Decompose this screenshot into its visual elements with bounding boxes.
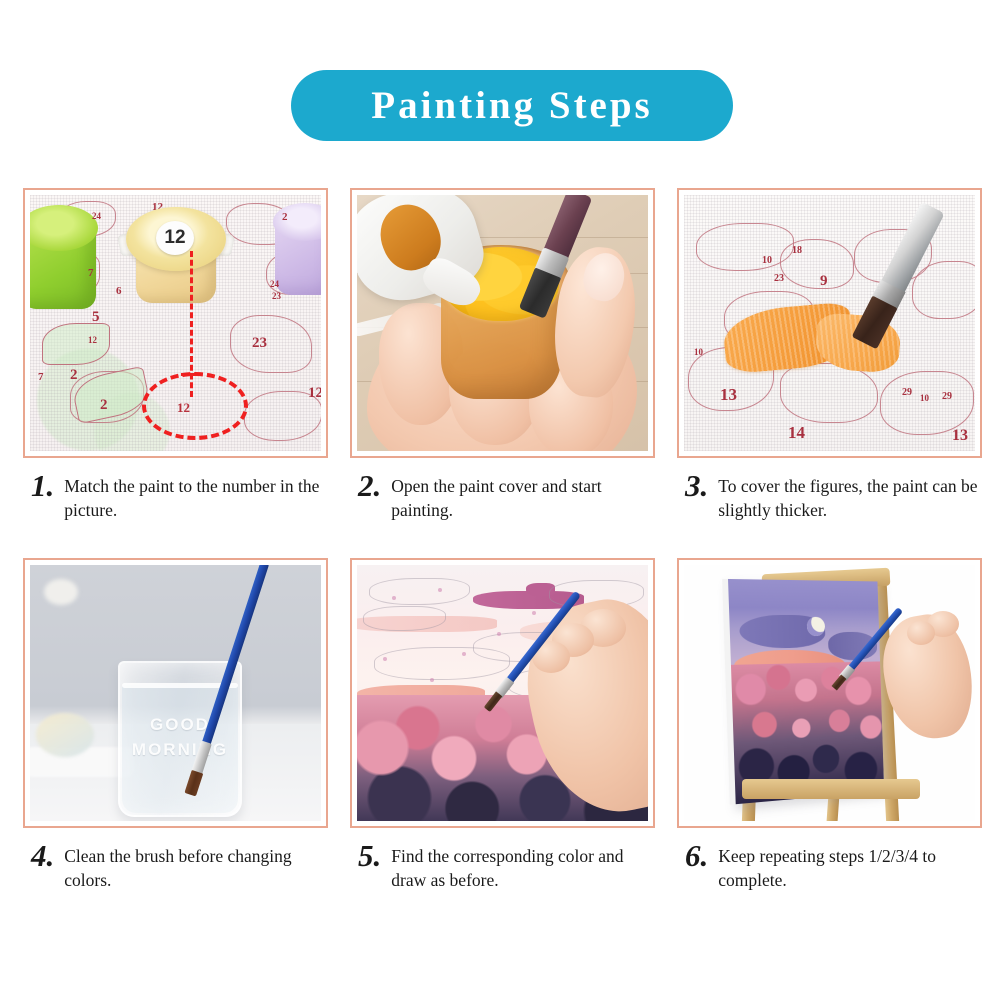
step-2-caption: 2. Open the paint cover and start painti… [350,468,655,522]
number-dot [497,632,501,636]
step-5-caption: 5. Find the corresponding color and draw… [350,838,655,892]
canvas-number-label: 18 [792,245,802,256]
step-description: Find the corresponding color and draw as… [391,838,655,892]
canvas-number-label: 24 [270,279,279,289]
step-number: 6. [685,838,708,871]
steps-grid: 12 24 2 7 6 5 12 23 24 23 2 7 2 12 [0,188,1000,928]
canvas-number-label: 12 [308,385,321,402]
canvas-number-label: 7 [38,371,44,383]
highlighted-canvas-number: 12 [177,400,190,416]
open-paint-pot-photo [357,195,648,451]
step-4-photo-frame: GOOD MORNING [23,558,328,828]
step-5-photo-frame [350,558,655,828]
step-6-photo-frame [677,558,982,828]
step-card-6: 6. Keep repeating steps 1/2/3/4 to compl… [677,558,982,892]
number-dot [392,596,396,600]
glass-text-line-2: MORNING [120,738,240,763]
step-3-photo-frame: 10 18 23 9 20 20 13 14 29 10 29 10 13 [677,188,982,458]
paint-pot-number: 12 [164,227,185,249]
canvas-number-label: 12 [88,335,97,345]
canvas-number-label: 5 [92,309,100,326]
canvas-number-label: 9 [820,273,828,290]
canvas-number-label: 29 [902,387,912,398]
finished-painting-on-easel-photo [684,565,975,821]
step-card-4: GOOD MORNING 4. Clean the brush before c… [23,558,328,892]
easel-tray [742,779,920,799]
red-dashed-highlight-ellipse [142,372,248,440]
steps-row-1: 12 24 2 7 6 5 12 23 24 23 2 7 2 12 [0,188,1000,558]
canvas-number-label: 10 [762,255,772,266]
finished-canvas [722,579,884,805]
background-object-blur [36,713,94,757]
canvas-number-label: 14 [788,423,805,443]
step-description: Clean the brush before changing colors. [64,838,328,892]
step-card-3: 10 18 23 9 20 20 13 14 29 10 29 10 13 [677,188,982,522]
paint-pot-number-badge: 12 [156,221,194,255]
canvas-number-label: 23 [272,291,281,301]
rinse-brush-in-water-photo: GOOD MORNING [30,565,321,821]
step-6-caption: 6. Keep repeating steps 1/2/3/4 to compl… [677,838,982,892]
step-3-caption: 3. To cover the figures, the paint can b… [677,468,982,522]
outline-guide [363,606,446,631]
step-card-1: 12 24 2 7 6 5 12 23 24 23 2 7 2 12 [23,188,328,522]
canvas-number-label: 13 [720,385,737,405]
step-2-photo-frame [350,188,655,458]
step-number: 4. [31,838,54,871]
step-description: To cover the figures, the paint can be s… [718,468,982,522]
page-title-banner: Painting Steps [291,70,733,141]
step-number: 3. [685,468,708,501]
canvas-number-label: 24 [92,211,101,221]
yellow-paint-pot: 12 [122,207,230,305]
canvas-number-label: 10 [920,393,929,403]
step-1-photo-frame: 12 24 2 7 6 5 12 23 24 23 2 7 2 12 [23,188,328,458]
step-card-5: 5. Find the corresponding color and draw… [350,558,655,892]
step-number: 1. [31,468,54,501]
canvas-number-label: 29 [942,391,952,402]
number-dot [532,611,536,615]
page-title: Painting Steps [371,83,652,128]
step-description: Match the paint to the number in the pic… [64,468,328,522]
thick-paint-stroke-photo: 10 18 23 9 20 20 13 14 29 10 29 10 13 [684,195,975,451]
step-description: Keep repeating steps 1/2/3/4 to complete… [718,838,982,892]
canvas-number-label: 23 [252,335,267,352]
steps-row-2: GOOD MORNING 4. Clean the brush before c… [0,558,1000,928]
knuckle [907,621,935,645]
number-dot [462,652,466,656]
canvas-number-label: 6 [116,285,122,297]
paint-pot-number-match-photo: 12 24 2 7 6 5 12 23 24 23 2 7 2 12 [30,195,321,451]
outline-guide [374,647,510,680]
background-object-blur [44,579,78,605]
canvas-number-label: 2 [70,367,78,384]
step-description: Open the paint cover and start painting. [391,468,655,522]
canvas-outline-shape [780,363,878,423]
glass-text-line-1: GOOD [120,713,240,738]
step-1-caption: 1. Match the paint to the number in the … [23,468,328,522]
canvas-outline-shape [230,315,312,373]
canvas-number-label: 7 [88,267,94,279]
canvas-number-label: 2 [100,397,108,414]
step-number: 5. [358,838,381,871]
canvas-number-label: 13 [952,427,968,445]
number-dot [430,678,434,682]
canvas-number-label: 2 [282,211,288,223]
canvas-number-label: 23 [774,273,784,284]
canvas-number-label: 10 [694,347,703,357]
step-number: 2. [358,468,381,501]
glass-printed-text: GOOD MORNING [120,713,240,762]
painting-in-progress-photo [357,565,648,821]
step-card-2: 2. Open the paint cover and start painti… [350,188,655,522]
step-4-caption: 4. Clean the brush before changing color… [23,838,328,892]
canvas-leaf-shape [42,323,110,365]
